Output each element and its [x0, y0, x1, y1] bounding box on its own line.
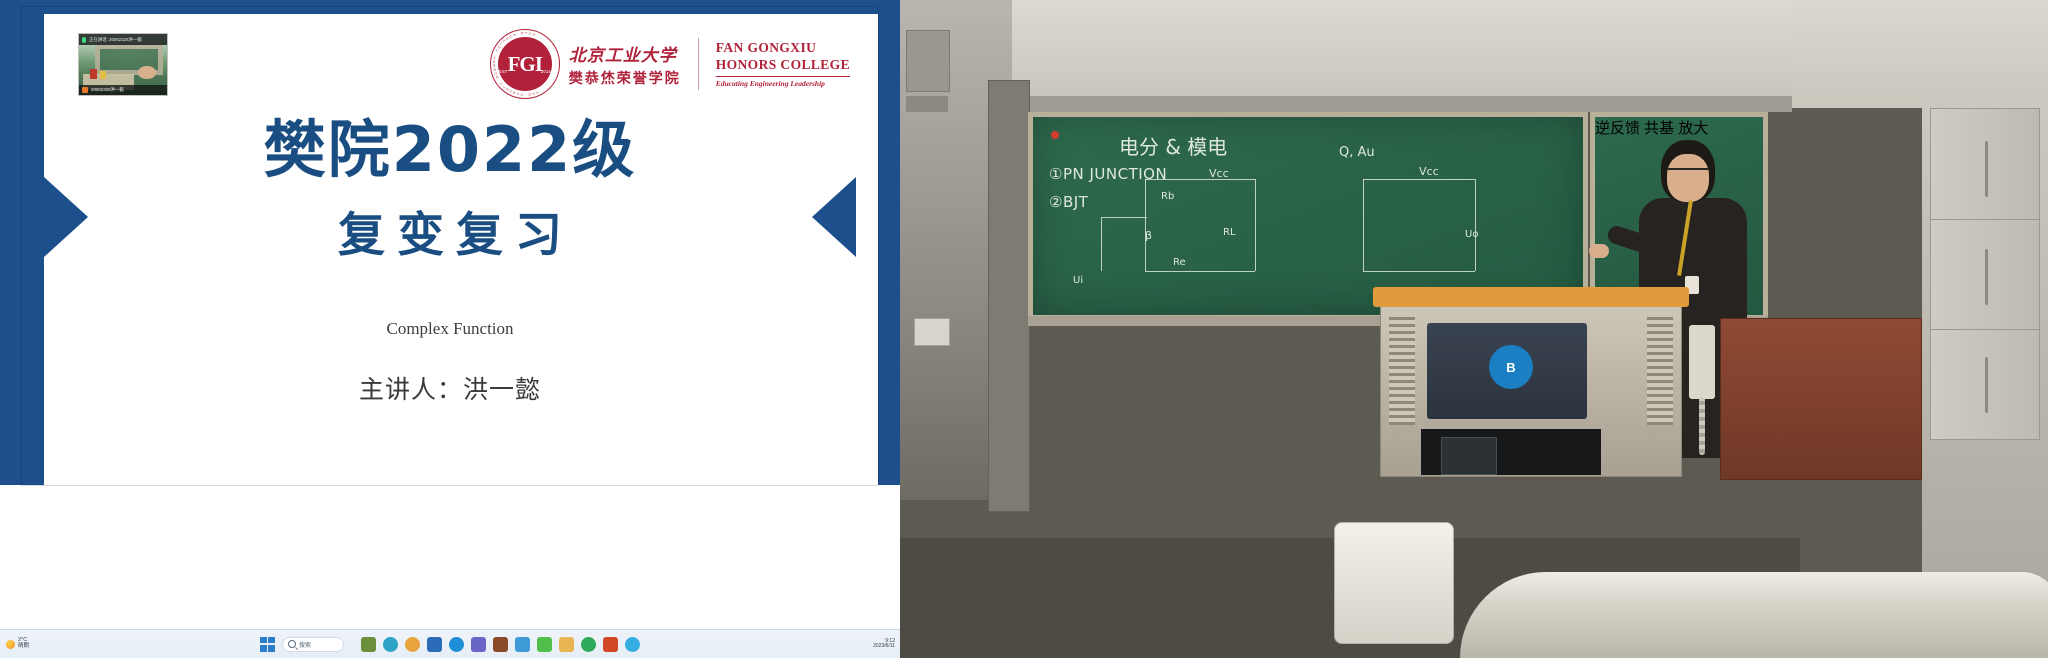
logo-divider [698, 38, 699, 90]
taskbar-system-tray[interactable]: 9:12 2023/6/11 [873, 639, 895, 650]
phone-cord [1699, 397, 1705, 455]
blackboard-label-q-au: Q, Au [1339, 145, 1375, 160]
classroom-chair [1334, 522, 1454, 644]
blackboard-heading: 电分 & 模电 [1119, 131, 1227, 160]
college-seal-icon: FGI EST 2014 FAN GONGXIU HONORS COLLEGE … [490, 29, 560, 99]
podium-phone [1689, 325, 1715, 399]
blackboard-label-ui: Ui [1073, 275, 1083, 286]
blackboard-label-beta: β [1145, 229, 1152, 242]
app-icon-edge-legacy[interactable] [383, 637, 398, 652]
search-icon [288, 640, 296, 648]
blackboard-label-vcc-2: Vcc [1419, 165, 1439, 178]
shared-screen-region[interactable]: FGI EST 2014 FAN GONGXIU HONORS COLLEGE … [0, 0, 900, 658]
university-name-cn: 北京工业大学 [569, 41, 681, 66]
windows-start-icon[interactable] [260, 637, 275, 652]
slide-english-subtitle: Complex Function [22, 319, 878, 339]
college-en-line2: HONORS COLLEGE [716, 57, 850, 74]
wall-control-box [914, 318, 950, 346]
classroom-door [988, 80, 1030, 512]
app-icon-powerpoint[interactable] [603, 637, 618, 652]
app-icon-minecraft[interactable] [361, 637, 376, 652]
college-en-tagline: Educating Engineering Leadership [716, 76, 850, 88]
podium-computer [1441, 437, 1497, 475]
college-logo: FGI EST 2014 FAN GONGXIU HONORS COLLEGE … [490, 29, 850, 99]
app-icon-photos[interactable] [515, 637, 530, 652]
microphone-icon [82, 37, 86, 43]
taskbar-app-icons[interactable] [361, 637, 640, 652]
speaker-active-icon [82, 87, 88, 93]
college-name-english: FAN GONGXIU HONORS COLLEGE Educating Eng… [716, 40, 850, 88]
app-icon-teams[interactable] [471, 637, 486, 652]
blackboard-right-text: 逆反馈 共基 放大 [1595, 117, 1763, 138]
teaching-podium: B [1380, 300, 1682, 477]
search-placeholder: 搜索 [299, 640, 311, 649]
app-icon-store[interactable] [427, 637, 442, 652]
slide-title: 樊院2022级 [22, 119, 878, 181]
app-icon-wechat[interactable] [537, 637, 552, 652]
seal-arc-text: FAN GONGXIU HONORS COLLEGE BJUT [491, 30, 559, 98]
blackboard-line-1: ①PN JUNCTION [1049, 165, 1167, 183]
slide-subtitle: 复变复习 [22, 212, 878, 259]
slide-presenter: 主讲人：洪一懿 [22, 370, 878, 406]
wooden-lectern [1720, 318, 1922, 480]
college-name-cn: 樊恭烋荣誉学院 [569, 68, 681, 88]
foreground-desk [1460, 572, 2048, 658]
college-name-chinese: 北京工业大学 樊恭烋荣誉学院 [569, 41, 681, 88]
wall-speaker-panel [906, 30, 950, 92]
blackboard-label-uo: Uo [1465, 229, 1478, 240]
wall-panel-lower [906, 96, 948, 112]
blackboard-label-rb: Rb [1161, 191, 1174, 202]
glasses-icon [1668, 168, 1708, 178]
thumbnail-speaking-label: 正在讲话: 20062326洪一懿 [89, 37, 142, 43]
classroom-camera-feed[interactable]: 电分 & 模电 ①PN JUNCTION ②BJT Vcc Rb RL Re β… [900, 0, 2048, 658]
thumbnail-name-bar: 20062326洪一懿 [79, 85, 167, 95]
participant-video-thumbnail[interactable]: 正在讲话: 20062326洪一懿 20062326洪一懿 [79, 34, 167, 95]
slide-top-band [22, 7, 878, 14]
thumbnail-speaking-bar: 正在讲话: 20062326洪一懿 [79, 34, 167, 45]
podium-logo: B [1489, 345, 1533, 389]
meeting-screen: FGI EST 2014 FAN GONGXIU HONORS COLLEGE … [0, 0, 2048, 658]
app-icon-file-explorer[interactable] [559, 637, 574, 652]
storage-cabinet [1930, 108, 2040, 440]
windows-taskbar[interactable]: 2°C 晴朗 搜索 9:12 2023/6/11 [0, 629, 900, 658]
board-magnet-icon [1051, 131, 1059, 139]
powerpoint-slide[interactable]: FGI EST 2014 FAN GONGXIU HONORS COLLEGE … [22, 7, 878, 485]
taskbar-search-input[interactable]: 搜索 [282, 637, 344, 652]
app-icon-edge[interactable] [449, 637, 464, 652]
app-icon-netdisk[interactable] [625, 637, 640, 652]
app-icon-chrome[interactable] [405, 637, 420, 652]
blackboard-line-2: ②BJT [1049, 193, 1088, 211]
powerpoint-page-area [0, 485, 900, 630]
app-icon-wps[interactable] [581, 637, 596, 652]
wall-strip [1012, 96, 1792, 112]
blackboard-label-re: Re [1173, 257, 1186, 268]
thumbnail-participant-name: 20062326洪一懿 [91, 87, 124, 93]
app-icon-notes[interactable] [493, 637, 508, 652]
taskbar-center-cluster[interactable]: 搜索 [0, 637, 900, 652]
blackboard-label-rl: RL [1223, 227, 1236, 238]
college-en-line1: FAN GONGXIU [716, 40, 850, 57]
tray-date[interactable]: 2023/6/11 [873, 644, 895, 650]
